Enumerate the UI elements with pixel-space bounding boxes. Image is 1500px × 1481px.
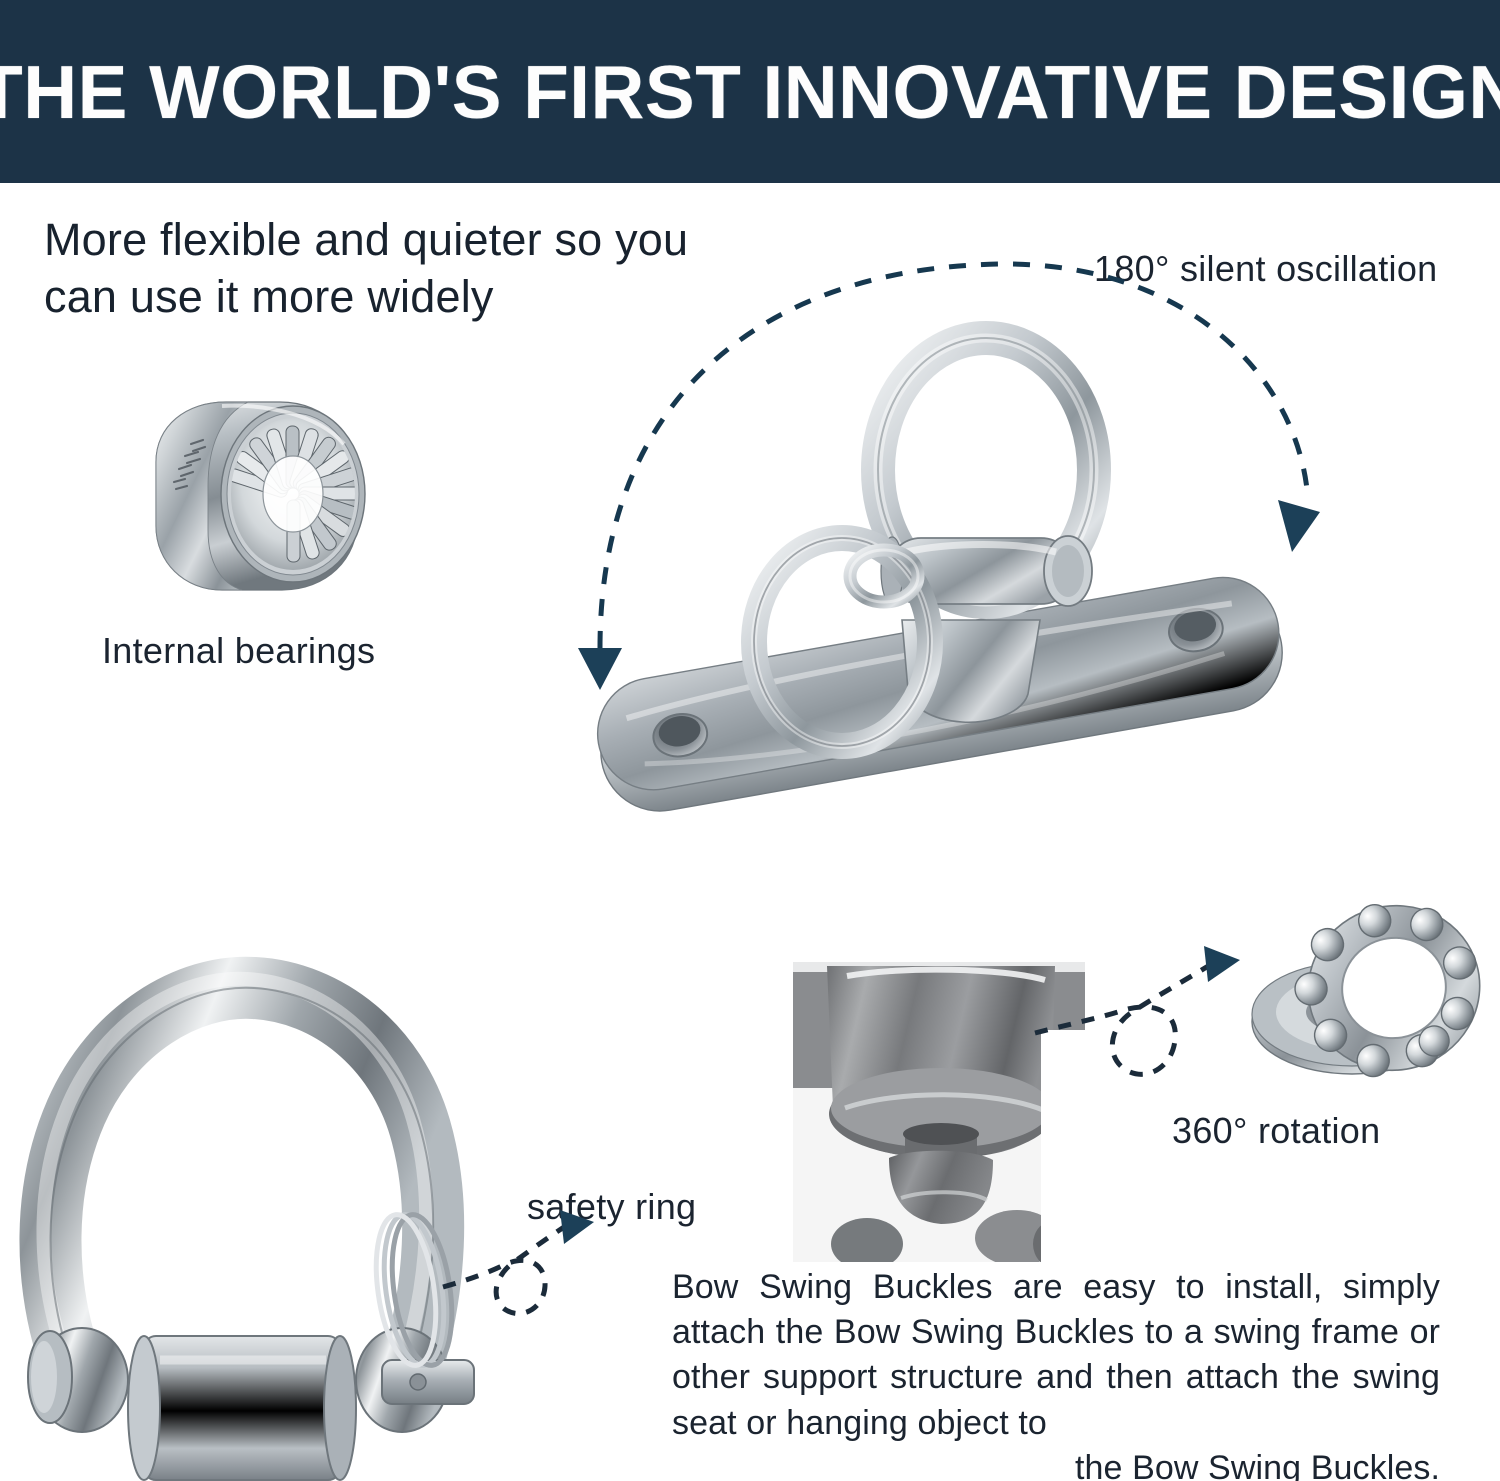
- caption-internal-bearings: Internal bearings: [102, 630, 375, 672]
- needle-bearing-image: [130, 390, 390, 605]
- bow-shackle-image: [10, 890, 490, 1480]
- mount-plate-image: [570, 290, 1330, 870]
- infographic-page: THE WORLD'S FIRST INNOVATIVE DESIGN More…: [0, 0, 1500, 1481]
- thrust-bearing-image: [1238, 898, 1500, 1088]
- header-banner: THE WORLD'S FIRST INNOVATIVE DESIGN: [0, 0, 1500, 183]
- caption-safety-ring: safety ring: [527, 1186, 696, 1228]
- description-last-line: the Bow Swing Buckles.: [672, 1446, 1440, 1481]
- caption-rotation: 360° rotation: [1172, 1110, 1380, 1152]
- swivel-base-image: [793, 962, 1085, 1262]
- rotation-arrow-icon: [1204, 946, 1240, 982]
- description-paragraph: Bow Swing Buckles are easy to install, s…: [672, 1265, 1440, 1481]
- description-main: Bow Swing Buckles are easy to install, s…: [672, 1268, 1440, 1442]
- caption-oscillation: 180° silent oscillation: [1094, 248, 1438, 290]
- page-title: THE WORLD'S FIRST INNOVATIVE DESIGN: [4, 0, 1497, 183]
